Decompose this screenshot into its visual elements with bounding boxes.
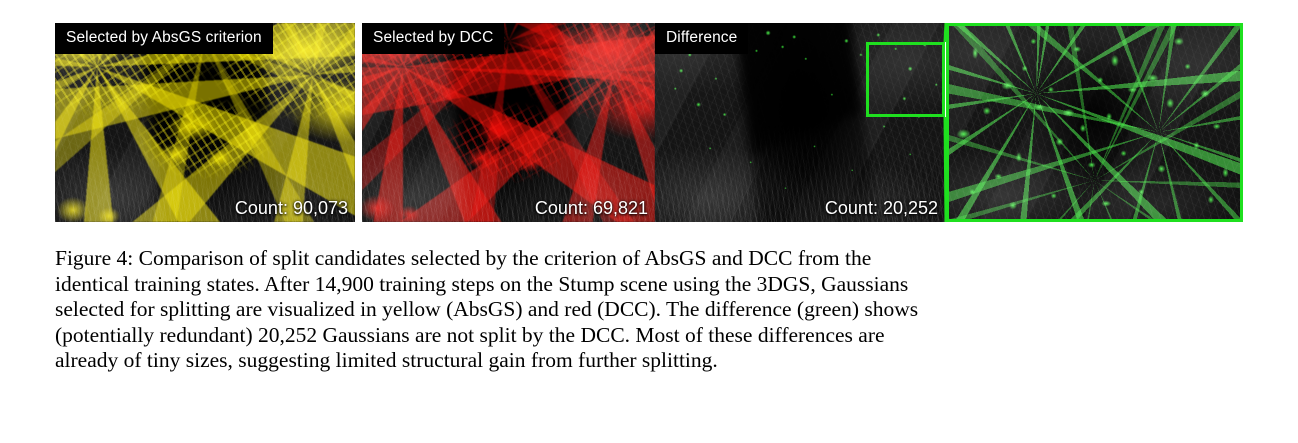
panel-label-dcc: Selected by DCC <box>362 23 504 54</box>
figure-caption: Figure 4: Comparison of split candidates… <box>55 246 1245 374</box>
caption-line-5: already of tiny sizes, suggesting limite… <box>55 348 1245 374</box>
caption-line-2: identical training states. After 14,900 … <box>55 272 1245 298</box>
panel-difference[interactable]: Difference Count: 20,252 <box>655 23 945 222</box>
magnifier-selection-box[interactable] <box>866 42 945 117</box>
figure-panel-row: Selected by AbsGS criterion Count: 90,07… <box>55 23 1243 222</box>
panel-label-absgs: Selected by AbsGS criterion <box>55 23 273 54</box>
caption-line-3: selected for splitting are visualized in… <box>55 297 1245 323</box>
panel-count-absgs: Count: 90,073 <box>235 199 348 217</box>
panel-count-difference: Count: 20,252 <box>825 199 938 217</box>
panel-label-difference: Difference <box>655 23 748 54</box>
panel-count-dcc: Count: 69,821 <box>535 199 648 217</box>
green-difference-points-magnified <box>949 26 1240 219</box>
panel-magnified-inset[interactable] <box>946 23 1243 222</box>
panel-selected-by-absgs[interactable]: Selected by AbsGS criterion Count: 90,07… <box>55 23 355 222</box>
panel-selected-by-dcc[interactable]: Selected by DCC Count: 69,821 <box>362 23 655 222</box>
caption-line-1: Figure 4: Comparison of split candidates… <box>55 246 1245 272</box>
caption-line-4: (potentially redundant) 20,252 Gaussians… <box>55 323 1245 349</box>
